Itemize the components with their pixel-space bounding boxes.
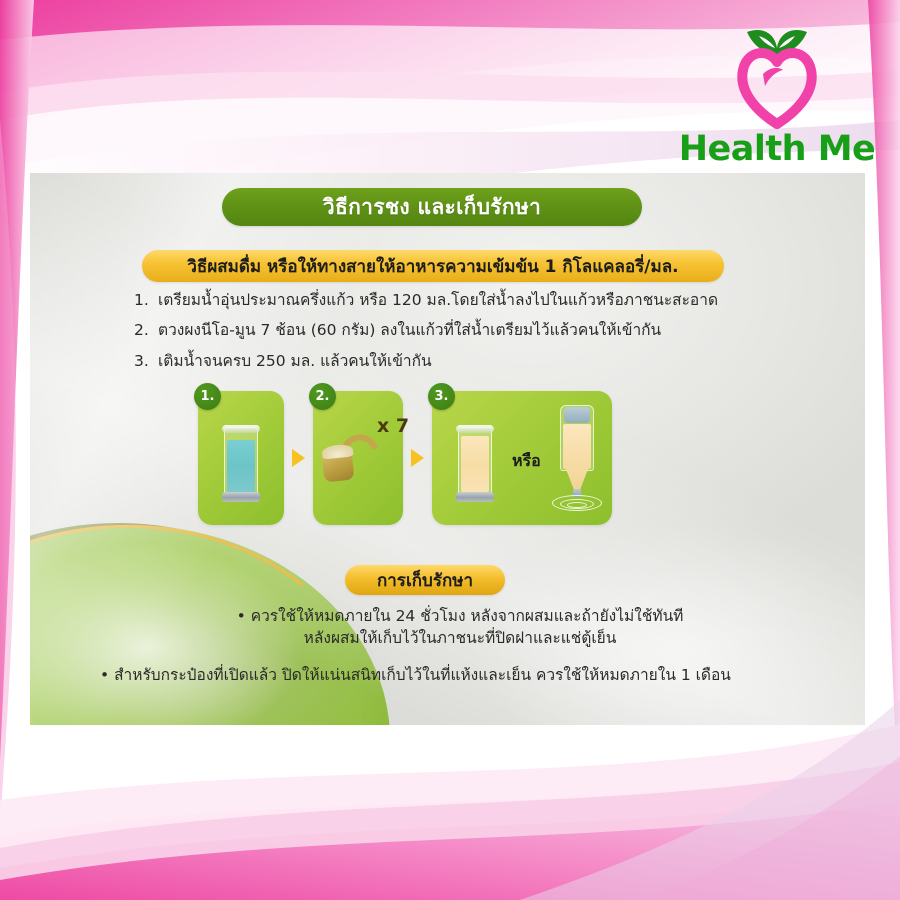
panel-badge-3: 3. (428, 383, 455, 410)
section-header-storage: การเก็บรักษา (345, 565, 505, 595)
feeding-bottle-icon (560, 405, 594, 497)
panel-badge-2: 2. (309, 383, 336, 410)
storage-item-line-2: หลังผสมให้เก็บไว้ในภาชนะที่ปิดฝาและแช่ตู… (100, 627, 820, 649)
preparation-illustration-strip: 1. 2. x 7 (198, 383, 658, 533)
bullet-icon: • (237, 607, 246, 625)
mixing-step: 3. เติมน้ำจนครบ 250 มล. แล้วคนให้เข้ากัน (134, 352, 834, 371)
step-text: เติมน้ำจนครบ 250 มล. แล้วคนให้เข้ากัน (158, 352, 834, 371)
label-content: วิธีการชง และเก็บรักษา วิธีผสมดื่ม หรือใ… (30, 173, 865, 725)
storage-item: • สำหรับกระป๋องที่เปิดแล้ว ปิดให้แน่นสนิ… (100, 664, 820, 686)
page-root: Health Me วิธีการชง และเก็บรักษา วิธีผสม… (0, 0, 900, 900)
step-number: 3. (134, 352, 158, 371)
mixing-banner: วิธีผสมดื่ม หรือให้ทางสายให้อาหารความเข้… (142, 250, 724, 282)
mixing-banner-text: วิธีผสมดื่ม หรือให้ทางสายให้อาหารความเข้… (187, 253, 678, 280)
bullet-icon: • (100, 666, 109, 684)
storage-item: • ควรใช้ให้หมดภายใน 24 ชั่วโมง หลังจากผส… (100, 605, 820, 650)
illustration-panel-2: 2. x 7 (313, 391, 403, 525)
product-label-photo: วิธีการชง และเก็บรักษา วิธีผสมดื่ม หรือใ… (30, 173, 865, 725)
apple-heart-logo-icon (713, 18, 841, 130)
storage-item-line-1: ควรใช้ให้หมดภายใน 24 ชั่วโมง หลังจากผสมแ… (251, 607, 684, 625)
glass-of-milk-icon (458, 427, 492, 499)
arrow-right-icon (411, 449, 424, 467)
scoop-multiplier-label: x 7 (377, 415, 409, 437)
arrow-right-icon (292, 449, 305, 467)
step-number: 1. (134, 291, 158, 310)
ripple-icon (567, 502, 587, 508)
section-header-preparation: วิธีการชง และเก็บรักษา (222, 188, 642, 226)
panel-badge-1: 1. (194, 383, 221, 410)
mixing-steps-list: 1. เตรียมน้ำอุ่นประมาณครึ่งแก้ว หรือ 120… (134, 291, 834, 382)
step-text: เตรียมน้ำอุ่นประมาณครึ่งแก้ว หรือ 120 มล… (158, 291, 834, 310)
storage-title: การเก็บรักษา (377, 567, 473, 594)
brand-logo: Health Me (672, 18, 882, 167)
illustration-panel-1: 1. (198, 391, 284, 525)
storage-item-line-1: สำหรับกระป๋องที่เปิดแล้ว ปิดให้แน่นสนิทเ… (114, 666, 731, 684)
or-label: หรือ (512, 449, 541, 474)
step-text: ตวงผงนีโอ-มูน 7 ช้อน (60 กรัม) ลงในแก้วท… (158, 321, 834, 340)
glass-of-water-icon (224, 427, 258, 499)
mixing-step: 1. เตรียมน้ำอุ่นประมาณครึ่งแก้ว หรือ 120… (134, 291, 834, 310)
step-number: 2. (134, 321, 158, 340)
header-title: วิธีการชง และเก็บรักษา (323, 191, 541, 224)
brand-name: Health Me (672, 132, 882, 167)
measuring-scoop-icon (321, 433, 383, 485)
mixing-step: 2. ตวงผงนีโอ-มูน 7 ช้อน (60 กรัม) ลงในแก… (134, 321, 834, 340)
storage-list: • ควรใช้ให้หมดภายใน 24 ชั่วโมง หลังจากผส… (100, 605, 820, 700)
illustration-panel-3: 3. หรือ (432, 391, 612, 525)
